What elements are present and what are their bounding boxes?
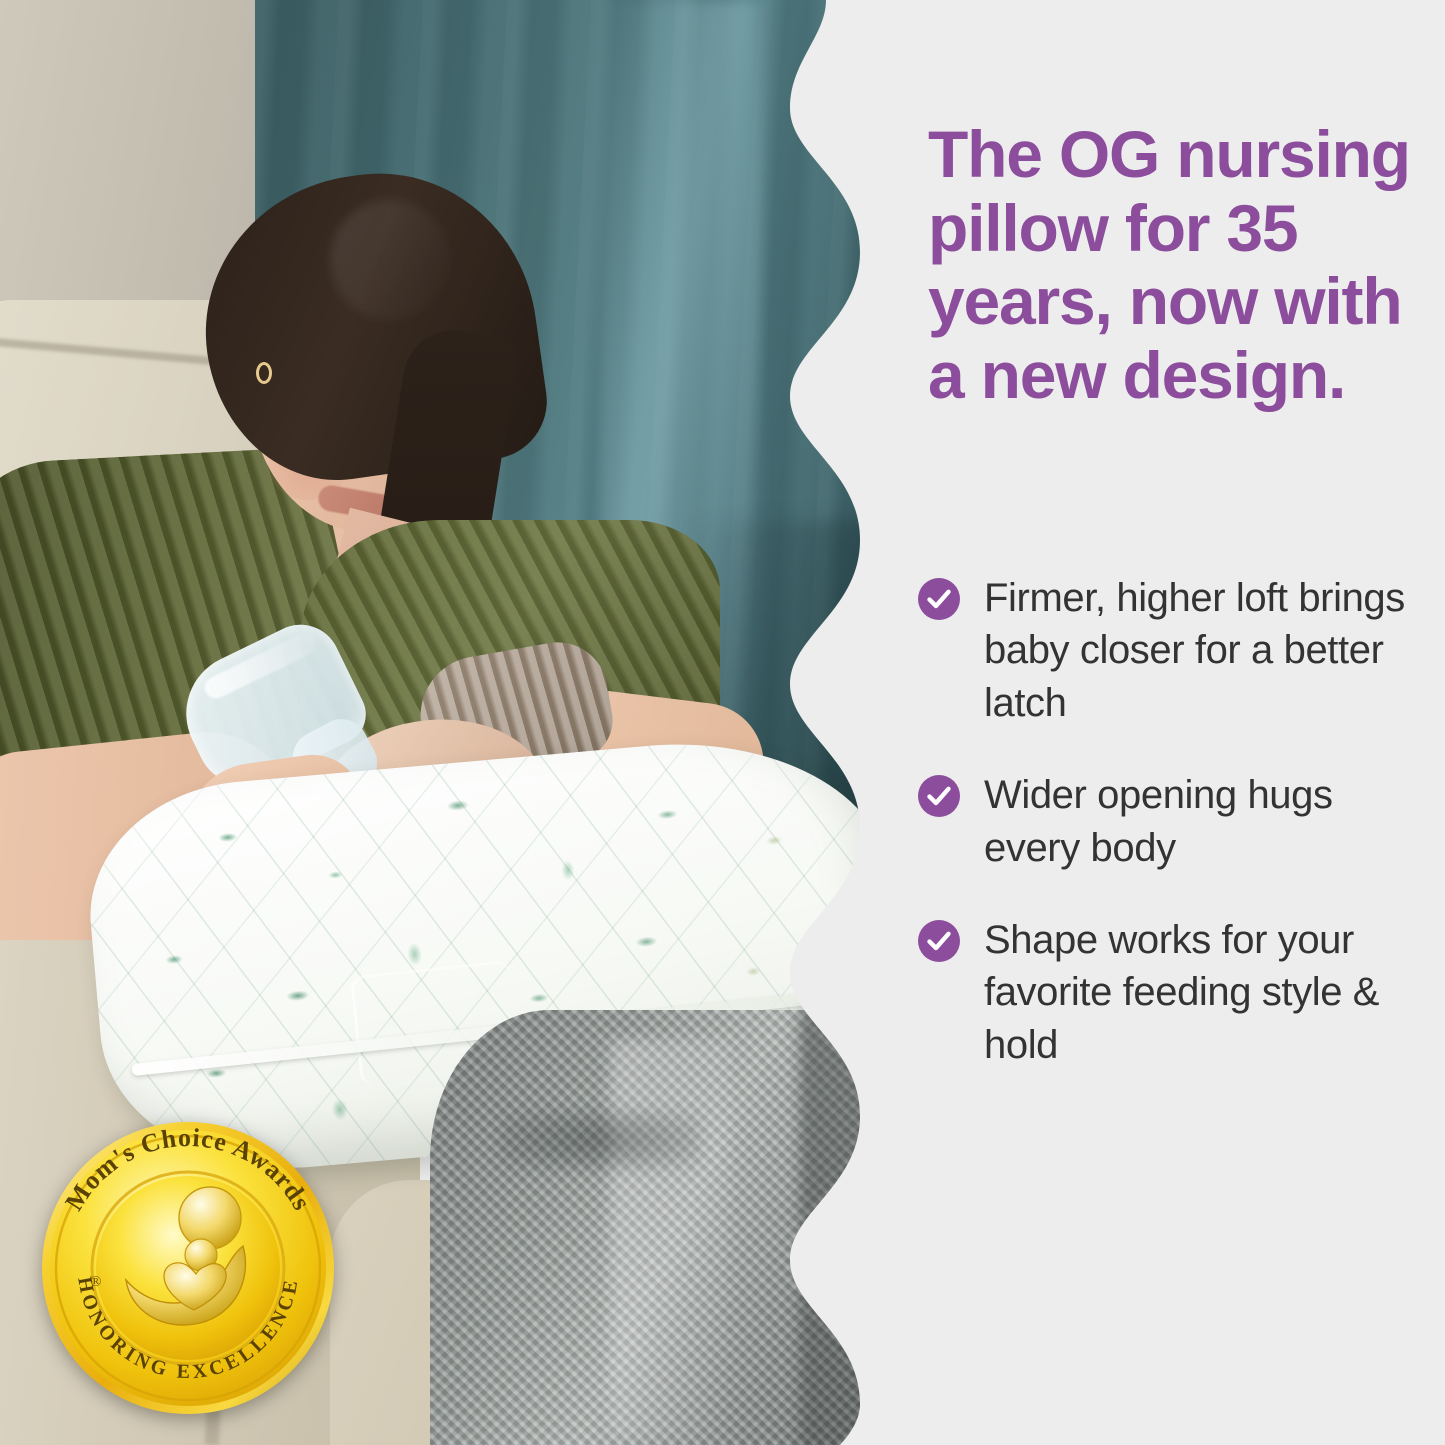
registered-trademark-mark: ® — [90, 1274, 101, 1290]
pants-highlight — [610, 1040, 730, 1440]
list-item-label: Firmer, higher loft brings baby closer f… — [984, 572, 1428, 729]
hair-highlight — [330, 200, 450, 320]
check-circle-icon — [918, 775, 960, 817]
list-item: Shape works for your favorite feeding st… — [918, 914, 1428, 1071]
list-item: Wider opening hugs every body — [918, 769, 1428, 874]
knee-shadow — [500, 1110, 700, 1170]
copy-panel: The OG nursing pillow for 35 years, now … — [866, 0, 1445, 1445]
check-circle-icon — [918, 578, 960, 620]
check-circle-icon — [918, 920, 960, 962]
hoop-earring — [256, 362, 272, 384]
page-title: The OG nursing pillow for 35 years, now … — [928, 118, 1428, 412]
pants-shadow — [800, 1010, 865, 1445]
feature-list: Firmer, higher loft brings baby closer f… — [918, 572, 1428, 1071]
list-item-label: Wider opening hugs every body — [984, 769, 1428, 874]
list-item-label: Shape works for your favorite feeding st… — [984, 914, 1428, 1071]
product-marketing-image: Mom's Choice Awards HONORING EXCELLENCE … — [0, 0, 1445, 1445]
list-item: Firmer, higher loft brings baby closer f… — [918, 572, 1428, 729]
moms-choice-awards-seal: Mom's Choice Awards HONORING EXCELLENCE … — [38, 1118, 338, 1418]
